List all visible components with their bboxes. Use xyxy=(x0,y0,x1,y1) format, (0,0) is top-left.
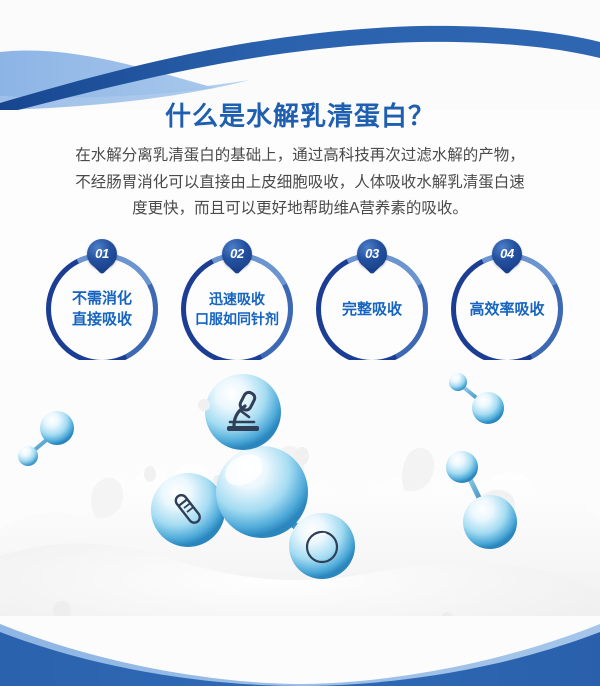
milk-bubble xyxy=(198,399,210,411)
feature-number-badge-02: 02 xyxy=(222,239,252,269)
page-title: 什么是水解乳清蛋白？ xyxy=(0,96,600,133)
intro-line-2: 不经肠胃消化可以直接由上皮细胞吸收，人体吸收水解乳清蛋白速 xyxy=(36,170,564,197)
feature-number-badge-03: 03 xyxy=(357,239,387,269)
milk-splash-molecule-illustration xyxy=(0,360,600,650)
badge-number: 04 xyxy=(492,239,522,269)
promo-page: 什么是水解乳清蛋白？ 在水解分离乳清蛋白的基础上，通过高科技再次过滤水解的产物，… xyxy=(0,0,600,686)
feature-label-line: 不需消化 xyxy=(72,288,132,309)
badge-number: 01 xyxy=(87,239,117,269)
feature-label-line: 完整吸收 xyxy=(342,299,402,320)
badge-number: 02 xyxy=(222,239,252,269)
sphere-center xyxy=(216,446,308,538)
feature-label-line: 迅速吸收 xyxy=(209,289,265,309)
intro-paragraph: 在水解分离乳清蛋白的基础上，通过高科技再次过滤水解的产物， 不经肠胃消化可以直接… xyxy=(36,143,564,223)
feature-number-badge-01: 01 xyxy=(87,239,117,269)
feature-circle-04[interactable]: 04 高效率吸收 xyxy=(451,253,563,365)
feature-label-line: 直接吸收 xyxy=(72,309,132,330)
sphere-microscope xyxy=(205,374,281,450)
intro-line-1: 在水解分离乳清蛋白的基础上，通过高科技再次过滤水解的产物， xyxy=(36,143,564,170)
badge-number: 03 xyxy=(357,239,387,269)
sphere-petri xyxy=(289,513,355,579)
feature-label-line: 高效率吸收 xyxy=(469,299,544,320)
intro-line-3: 度更快，而且可以更好地帮助维A营养素的吸收。 xyxy=(36,196,564,223)
bottom-decorative-wave xyxy=(0,616,600,686)
feature-label-line: 口服如同针剂 xyxy=(195,309,279,329)
feature-circle-03[interactable]: 03 完整吸收 xyxy=(316,253,428,365)
feature-circle-02[interactable]: 02 迅速吸收 口服如同针剂 xyxy=(181,253,293,365)
top-decorative-wave xyxy=(0,0,600,110)
sphere-testtube xyxy=(151,473,225,547)
feature-number-badge-04: 04 xyxy=(492,239,522,269)
feature-circle-list: 01 不需消化 直接吸收 02 迅速吸收 口服如同针剂 xyxy=(0,243,600,365)
feature-circle-01[interactable]: 01 不需消化 直接吸收 xyxy=(46,253,158,365)
